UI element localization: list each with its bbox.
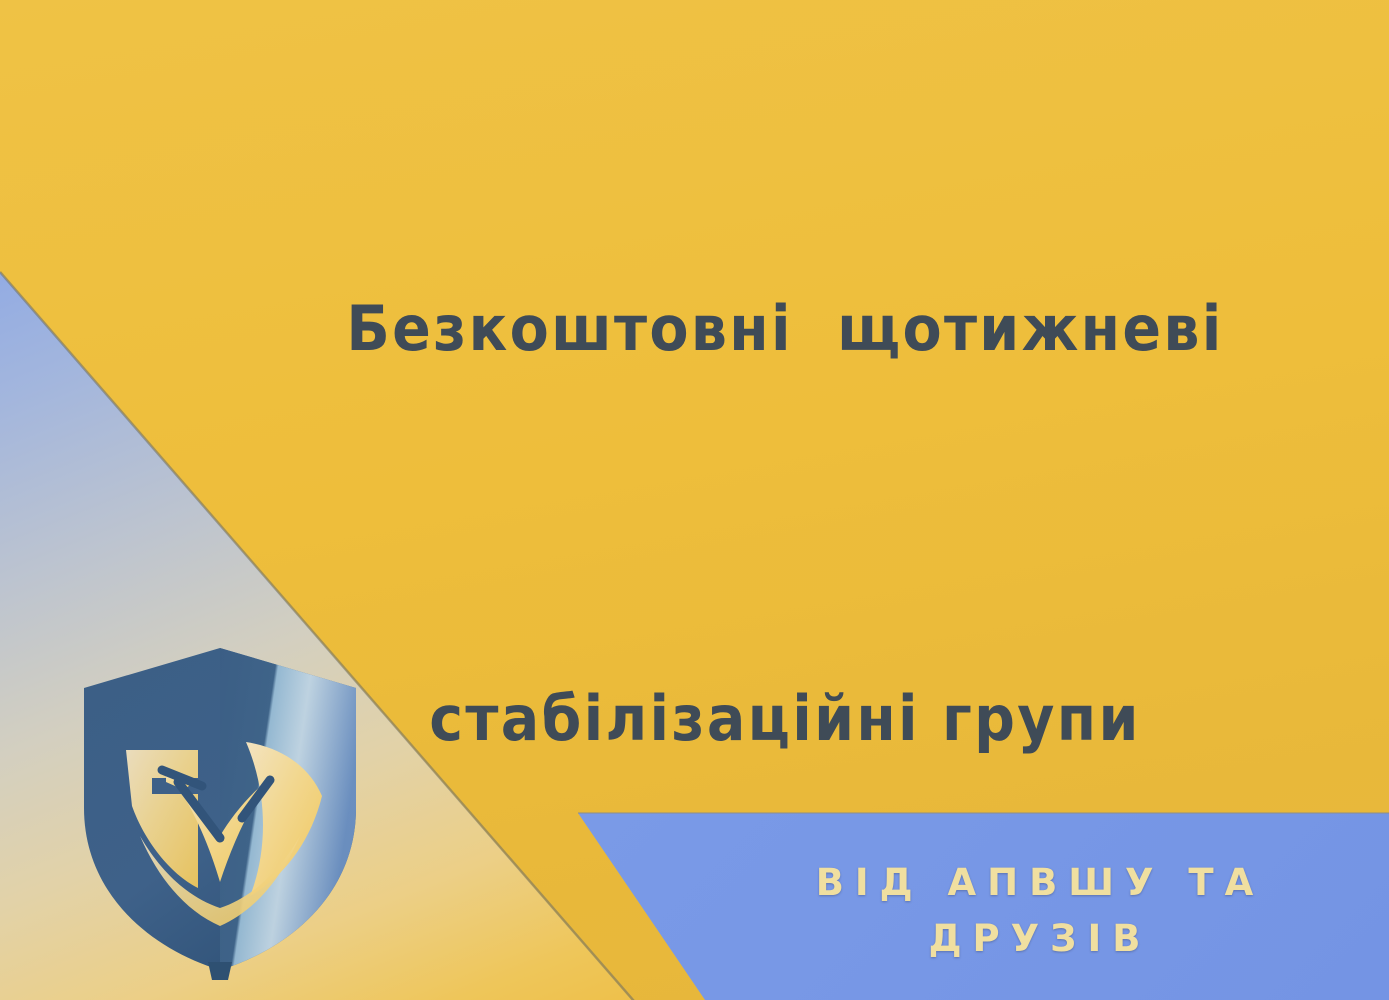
headline-line-1: Безкоштовні щотижневі <box>238 264 1333 394</box>
apvshu-shield-emblem-icon <box>70 630 370 980</box>
credit-line-1: ВІД АПВШУ ТА <box>740 855 1340 911</box>
credit-line-2: ДРУЗІВ <box>740 911 1340 967</box>
poster-canvas: Безкоштовні щотижневі стабілізаційні гру… <box>0 0 1389 1000</box>
page-title: Безкоштовні щотижневі стабілізаційні гру… <box>238 4 1333 1000</box>
credit-block: ВІД АПВШУ ТА ДРУЗІВ <box>740 855 1340 967</box>
headline-line-2: стабілізаційні групи <box>238 654 1333 784</box>
